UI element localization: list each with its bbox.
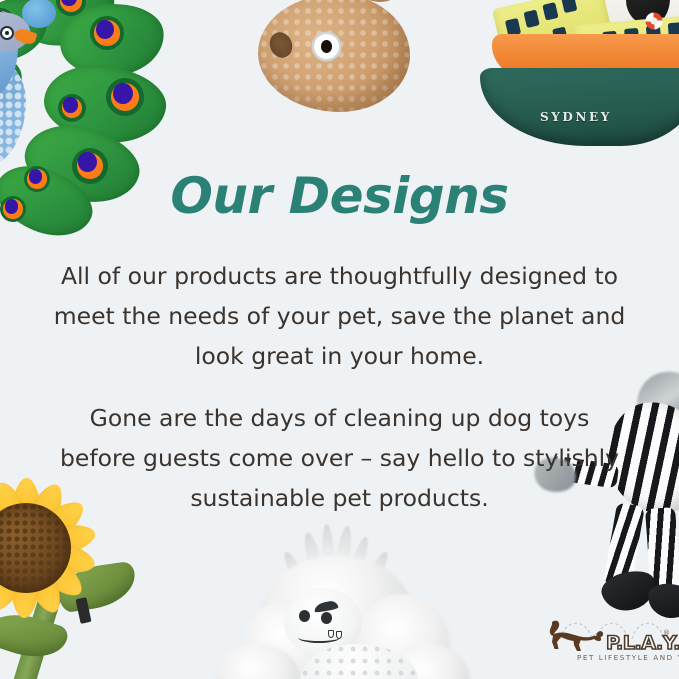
yeti-plush-toy xyxy=(222,548,432,679)
reindeer-plush-toy xyxy=(248,0,444,114)
life-ring-icon xyxy=(645,12,663,30)
product-lifestyle-banner: SYDNEY xyxy=(0,0,679,679)
boat-name-label: SYDNEY xyxy=(540,110,612,124)
brand-logo: P.L.A.Y. ® PET LIFESTYLE AND YOU xyxy=(534,612,672,670)
page-title: Our Designs xyxy=(0,167,679,225)
sydney-ferry-plush-toy: SYDNEY xyxy=(474,0,679,164)
moose-eye-icon xyxy=(314,34,339,59)
registered-mark: ® xyxy=(663,629,670,637)
body-paragraph-1: All of our products are thoughtfully des… xyxy=(52,256,627,376)
brand-tagline: PET LIFESTYLE AND YOU xyxy=(577,653,679,662)
body-paragraph-2: Gone are the days of cleaning up dog toy… xyxy=(52,398,627,518)
jumping-dog-icon xyxy=(538,618,608,654)
boat-hull: SYDNEY xyxy=(480,68,679,146)
